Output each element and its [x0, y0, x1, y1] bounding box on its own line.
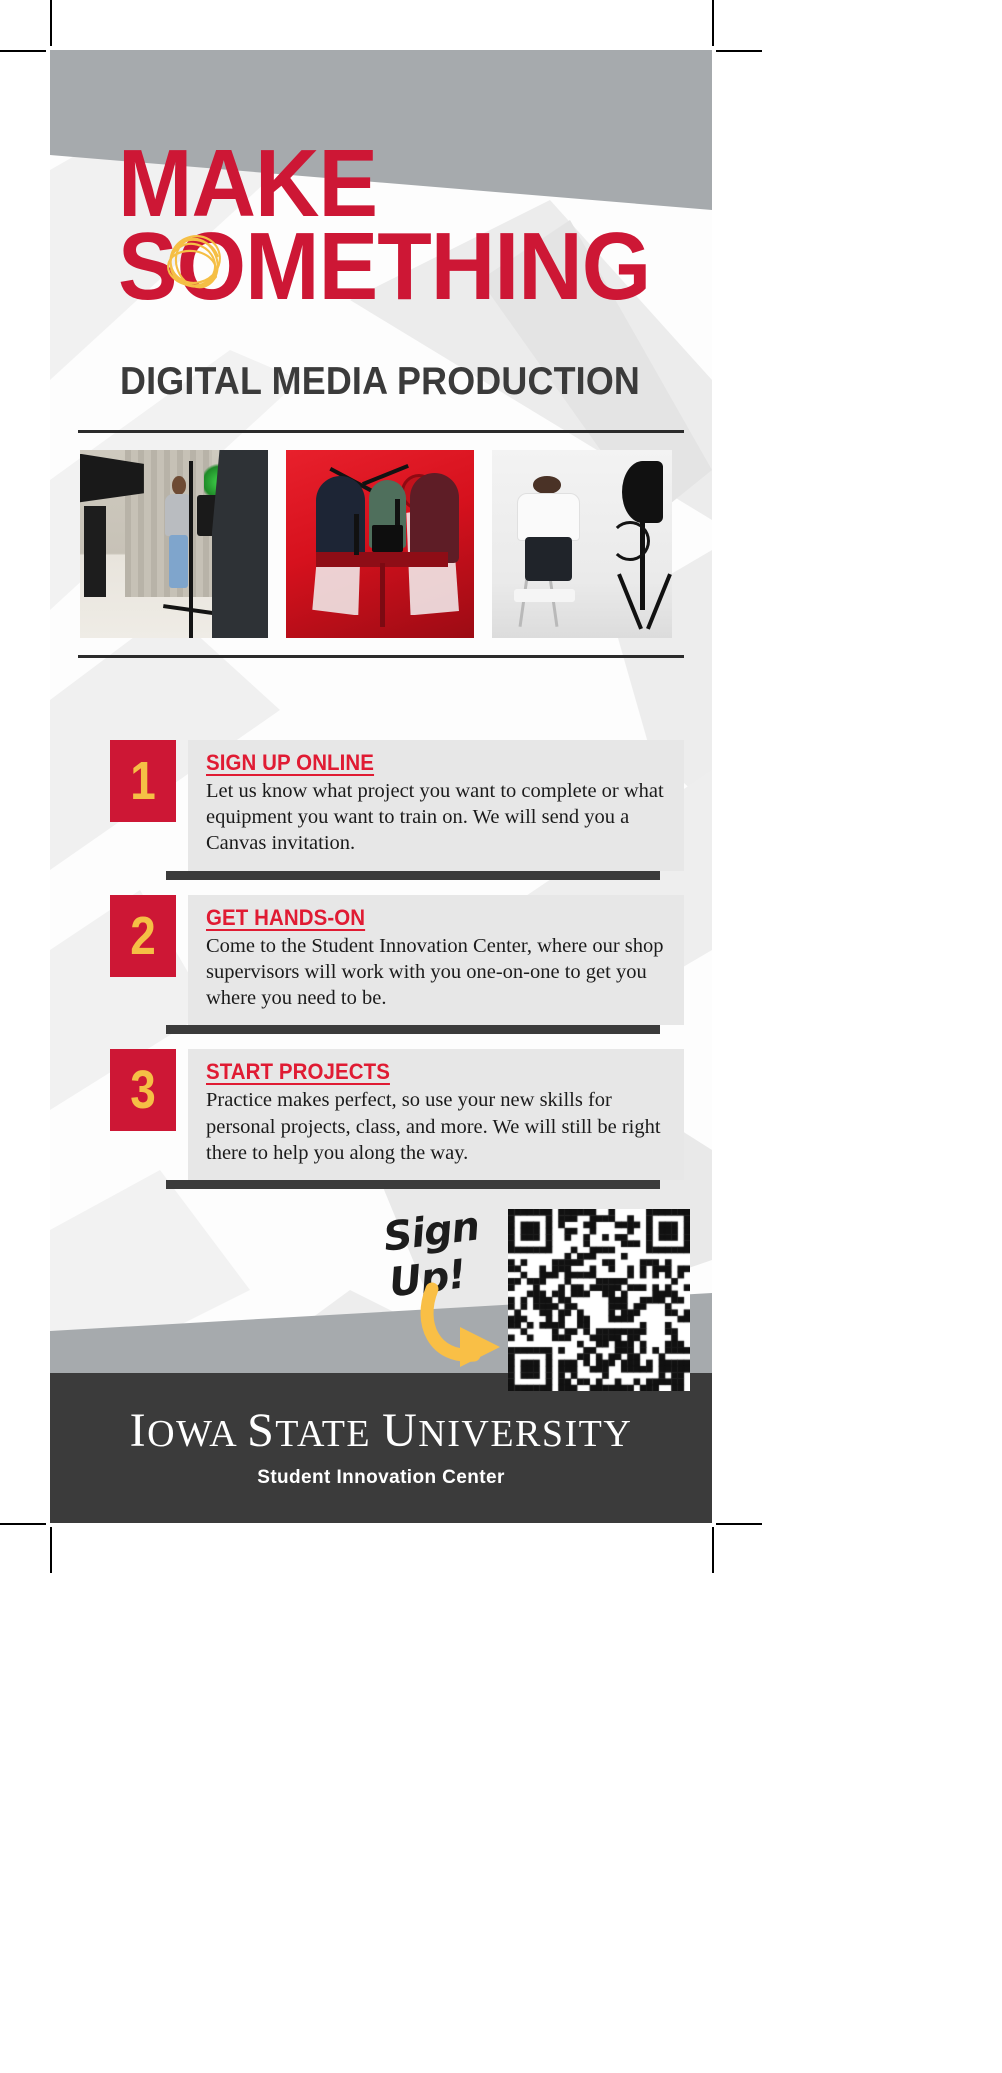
wordmark-niversity: NIVERSITY — [418, 1413, 632, 1455]
signup-callout: Sign Up! — [380, 1205, 690, 1395]
divider-bottom — [78, 655, 684, 658]
headline-rest: METHING — [245, 213, 650, 320]
step-panel: SIGN UP ONLINE Let us know what project … — [188, 740, 684, 871]
step-shadow — [166, 871, 660, 880]
headline-s: S — [118, 213, 177, 320]
step-panel: GET HANDS-ON Come to the Student Innovat… — [188, 895, 684, 1026]
step-item: SIGN UP ONLINE Let us know what project … — [80, 740, 684, 871]
red-podcast-studio-photo — [286, 450, 474, 638]
step-text: Let us know what project you want to com… — [206, 778, 670, 857]
step-panel: START PROJECTS Practice makes perfect, s… — [188, 1049, 684, 1180]
photo-strip — [80, 450, 684, 638]
step-item: START PROJECTS Practice makes perfect, s… — [80, 1049, 684, 1180]
step-number-badge: 3 — [110, 1049, 176, 1131]
subtitle: DIGITAL MEDIA PRODUCTION — [120, 360, 640, 404]
crop-mark-top-left-v — [50, 0, 52, 46]
step-title: START PROJECTS — [206, 1059, 638, 1085]
headline: MAKE SOMETHING — [118, 143, 690, 308]
banner-artboard: MAKE SOMETHING DIGITAL MEDIA PRODUCTION — [50, 50, 712, 1523]
step-number: 2 — [130, 909, 156, 963]
wordmark-tate: TATE — [275, 1413, 382, 1455]
divider-top — [78, 430, 684, 433]
step-number-badge: 2 — [110, 895, 176, 977]
step-number-badge: 1 — [110, 740, 176, 822]
step-title: SIGN UP ONLINE — [206, 750, 638, 776]
unit-name: Student Innovation Center — [257, 1467, 505, 1489]
step-item: GET HANDS-ON Come to the Student Innovat… — [80, 895, 684, 1026]
steps-list: SIGN UP ONLINE Let us know what project … — [80, 740, 684, 1204]
studio-video-shoot-photo — [80, 450, 268, 638]
step-shadow — [166, 1025, 660, 1034]
step-text: Come to the Student Innovation Center, w… — [206, 933, 670, 1012]
step-title: GET HANDS-ON — [206, 905, 638, 931]
portrait-lighting-photo — [492, 450, 672, 638]
qr-code-icon[interactable] — [508, 1209, 690, 1391]
step-text: Practice makes perfect, so use your new … — [206, 1087, 670, 1166]
crop-mark-top-right-h — [716, 50, 762, 52]
wordmark-u: U — [382, 1404, 418, 1457]
crop-mark-bottom-right-h — [716, 1523, 762, 1525]
step-shadow — [166, 1180, 660, 1189]
crop-mark-bottom-right-v — [712, 1527, 714, 1573]
crop-mark-bottom-left-v — [50, 1527, 52, 1573]
wordmark-s: S — [247, 1404, 275, 1457]
crop-mark-top-left-h — [0, 50, 46, 52]
wordmark-owa: OWA — [147, 1413, 247, 1455]
step-number: 3 — [130, 1063, 156, 1117]
university-wordmark: IOWA STATE UNIVERSITY — [130, 1407, 633, 1455]
headline-o: O — [177, 213, 246, 320]
step-number: 1 — [130, 754, 156, 808]
wordmark-i: I — [130, 1404, 147, 1457]
headline-line-2: SOMETHING — [118, 226, 650, 309]
crop-mark-top-right-v — [712, 0, 714, 46]
footer: IOWA STATE UNIVERSITY Student Innovation… — [50, 1373, 712, 1523]
crop-mark-bottom-left-h — [0, 1523, 46, 1525]
